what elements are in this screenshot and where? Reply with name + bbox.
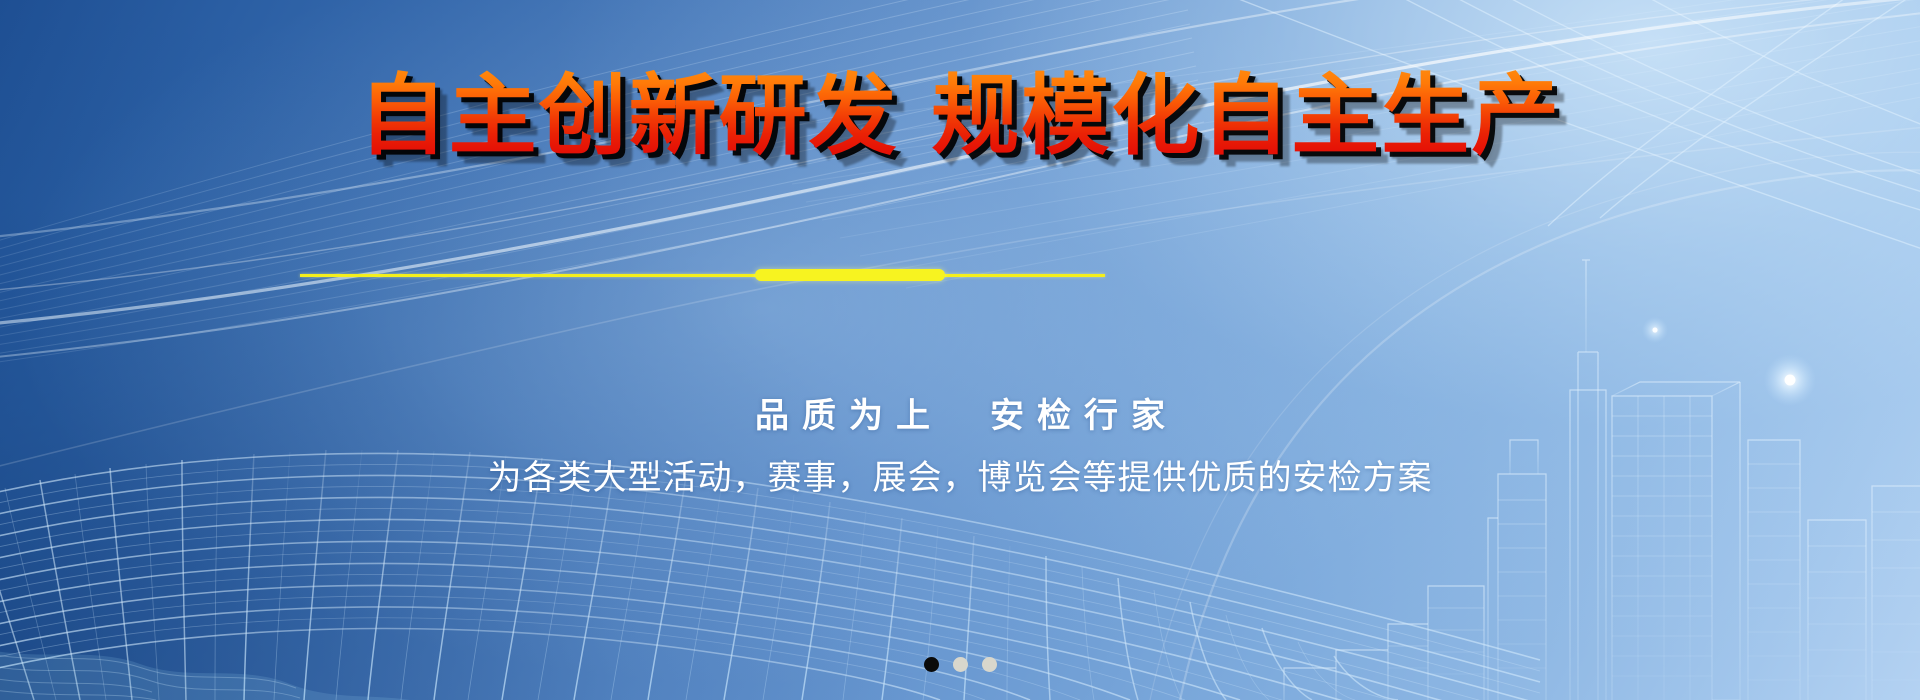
banner-subtitle-secondary: 为各类大型活动，赛事，展会，博览会等提供优质的安检方案 [0,450,1920,499]
banner-content: 自主创新研发 规模化自主生产 品质为上 安检行家 为各类大型活动，赛事，展会，博… [0,0,1920,700]
banner-subtitle-primary: 品质为上 安检行家 [0,388,1920,437]
carousel-dot-2[interactable] [953,657,968,672]
hero-banner: 自主创新研发 规模化自主生产 品质为上 安检行家 为各类大型活动，赛事，展会，博… [0,0,1920,700]
carousel-dot-3[interactable] [982,657,997,672]
banner-headline: 自主创新研发 规模化自主生产 [0,68,1920,163]
divider-thick-segment [755,269,945,281]
carousel-dot-1[interactable] [924,657,939,672]
carousel-dots[interactable] [0,657,1920,672]
divider-thin-line [300,274,1105,277]
divider [0,268,1920,284]
